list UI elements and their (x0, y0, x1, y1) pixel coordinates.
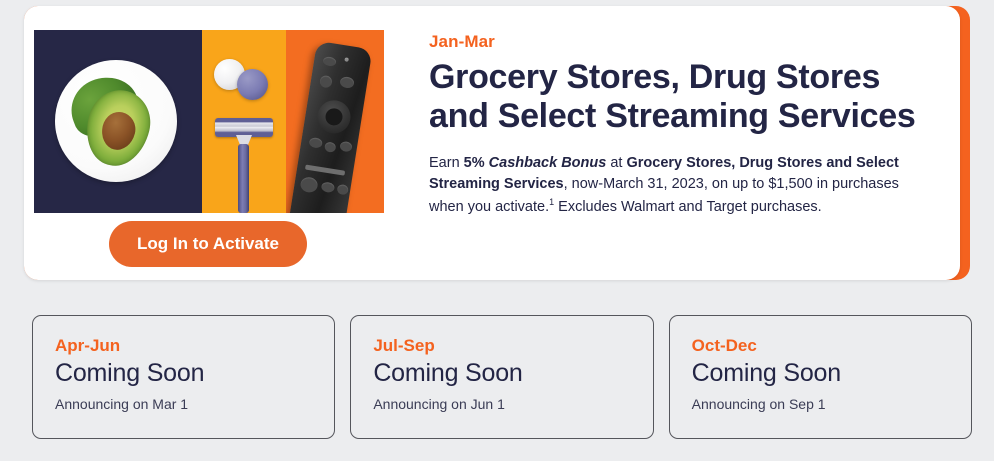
quarter-status: Coming Soon (692, 359, 949, 388)
remote-mute-button (321, 181, 335, 193)
quarter-announce-date: Announcing on Sep 1 (692, 396, 949, 412)
avocado-panel (34, 30, 202, 213)
upcoming-quarters-list: Apr-Jun Coming Soon Announcing on Mar 1 … (32, 315, 972, 439)
quarter-status: Coming Soon (373, 359, 630, 388)
remote-menu-button (339, 76, 355, 89)
log-in-to-activate-button[interactable]: Log In to Activate (109, 221, 307, 267)
contact-lens-case-right-icon (237, 69, 268, 100)
remote-source-button (319, 75, 333, 89)
remote-home-button (324, 141, 336, 153)
quarter-card-jul-sep[interactable]: Jul-Sep Coming Soon Announcing on Jun 1 (350, 315, 653, 439)
toiletries-panel (202, 30, 286, 213)
quarter-status: Coming Soon (55, 359, 312, 388)
hero-copy: Jan-Mar Grocery Stores, Drug Stores and … (429, 32, 929, 218)
body-program-name: Cashback Bonus (489, 155, 607, 171)
featured-quarter-card: Jan-Mar Grocery Stores, Drug Stores and … (24, 6, 970, 280)
hero-title: Grocery Stores, Drug Stores and Select S… (429, 58, 929, 137)
featured-card-surface: Jan-Mar Grocery Stores, Drug Stores and … (24, 6, 960, 280)
remote-power-button (322, 56, 336, 67)
remote-play-button (339, 141, 352, 153)
streaming-panel (286, 30, 384, 213)
remote-divider (305, 165, 345, 176)
body-percent: 5% (464, 155, 485, 171)
remote-volume-rocker (300, 176, 319, 193)
quarter-label: Oct-Dec (692, 336, 949, 356)
quarter-card-oct-dec[interactable]: Oct-Dec Coming Soon Announcing on Sep 1 (669, 315, 972, 439)
body-at: at (606, 155, 626, 171)
hero-image (34, 30, 384, 213)
quarter-label: Apr-Jun (55, 336, 312, 356)
razor-handle-icon (238, 144, 249, 213)
hero-description: Earn 5% Cashback Bonus at Grocery Stores… (429, 153, 929, 218)
razor-head-icon (215, 118, 273, 137)
quarter-announce-date: Announcing on Mar 1 (55, 396, 312, 412)
tv-remote-icon (287, 41, 372, 213)
body-exclusions: Excludes Walmart and Target purchases. (554, 198, 822, 214)
quarter-announce-date: Announcing on Jun 1 (373, 396, 630, 412)
quarter-card-apr-jun[interactable]: Apr-Jun Coming Soon Announcing on Mar 1 (32, 315, 335, 439)
body-lead: Earn (429, 155, 464, 171)
hero-quarter-label: Jan-Mar (429, 32, 929, 52)
cashback-calendar-page: Jan-Mar Grocery Stores, Drug Stores and … (0, 0, 994, 461)
remote-indicator-led (344, 57, 349, 62)
quarter-label: Jul-Sep (373, 336, 630, 356)
remote-back-button (309, 137, 323, 149)
remote-channel-button (337, 184, 349, 196)
